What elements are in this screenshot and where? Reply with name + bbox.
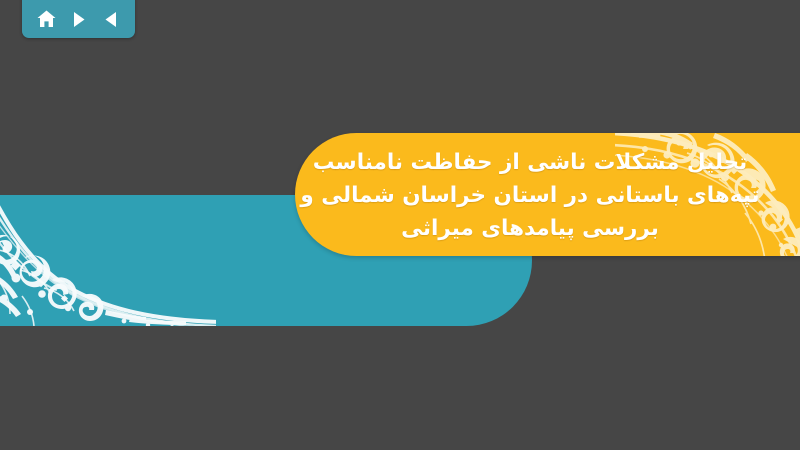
home-button[interactable] <box>33 7 59 31</box>
forward-button[interactable] <box>66 7 92 31</box>
viewer-toolbar <box>22 0 135 38</box>
back-button[interactable] <box>98 7 124 31</box>
orange-title-banner-shape <box>295 133 800 256</box>
slide-viewer: تحلیل مشکلات ناشی از حفاظت نامناسب تپه‌ه… <box>0 0 800 450</box>
orange-arabesque-ornament <box>615 133 800 256</box>
home-icon <box>37 10 56 28</box>
teal-arabesque-ornament <box>0 195 216 326</box>
forward-icon <box>71 11 87 28</box>
back-icon <box>103 11 119 28</box>
